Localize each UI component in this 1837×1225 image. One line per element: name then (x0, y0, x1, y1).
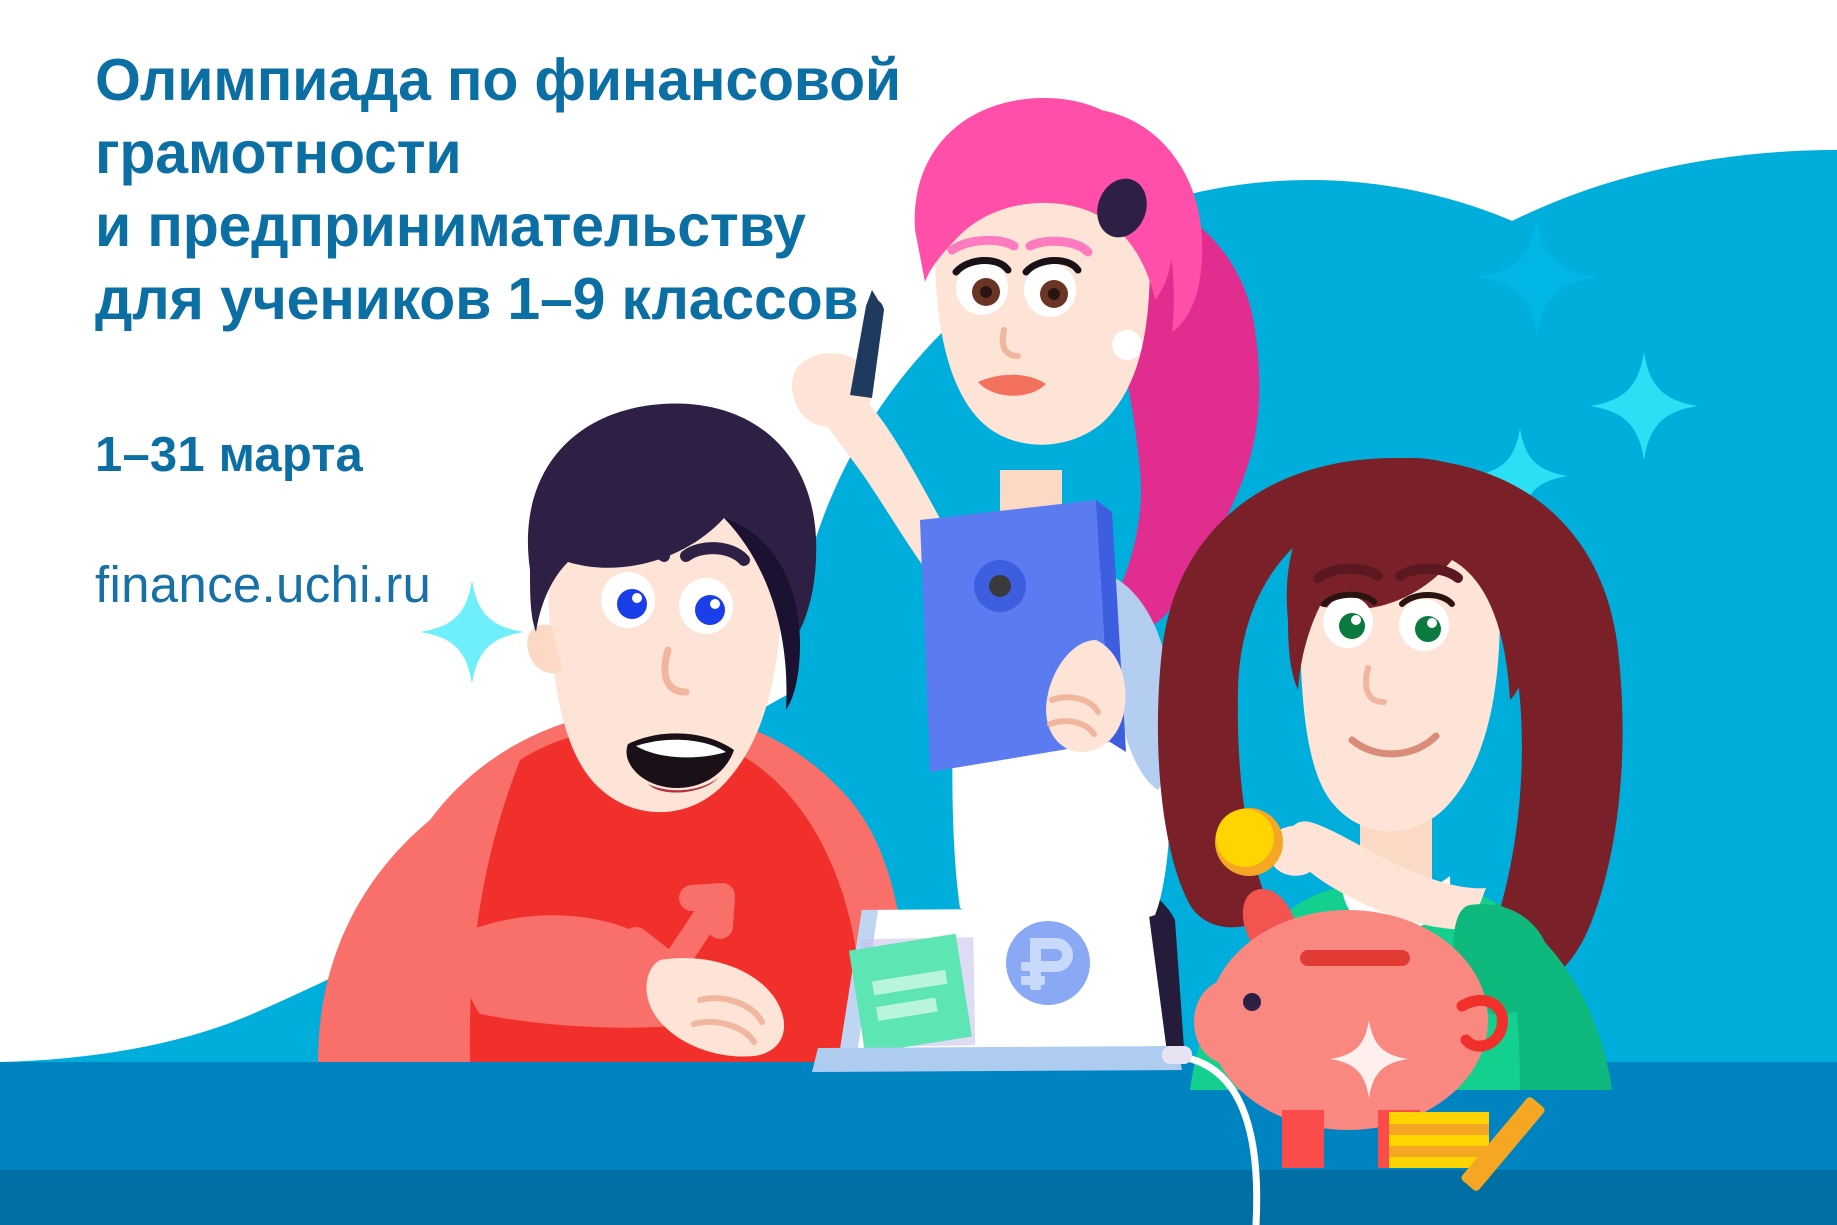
promo-banner: Олимпиада по финансовой грамотности и пр… (0, 0, 1837, 1225)
cable-plug (1162, 1046, 1192, 1064)
piggy-leg (1282, 1110, 1324, 1168)
laptop-base (812, 1046, 1182, 1072)
page-title: Олимпиада по финансовой грамотности и пр… (95, 44, 1225, 337)
floor-strip (0, 1170, 1837, 1225)
note-card (847, 922, 991, 1063)
piggy-snout (1194, 980, 1262, 1064)
coin-stack (1389, 1112, 1489, 1168)
date-range: 1–31 марта (95, 337, 1225, 483)
piggy-eye (1243, 993, 1261, 1011)
website-url[interactable]: finance.uchi.ru (95, 483, 1225, 614)
piggy-coin-slot (1300, 950, 1410, 966)
text-block: Олимпиада по финансовой грамотности и пр… (95, 44, 1225, 614)
